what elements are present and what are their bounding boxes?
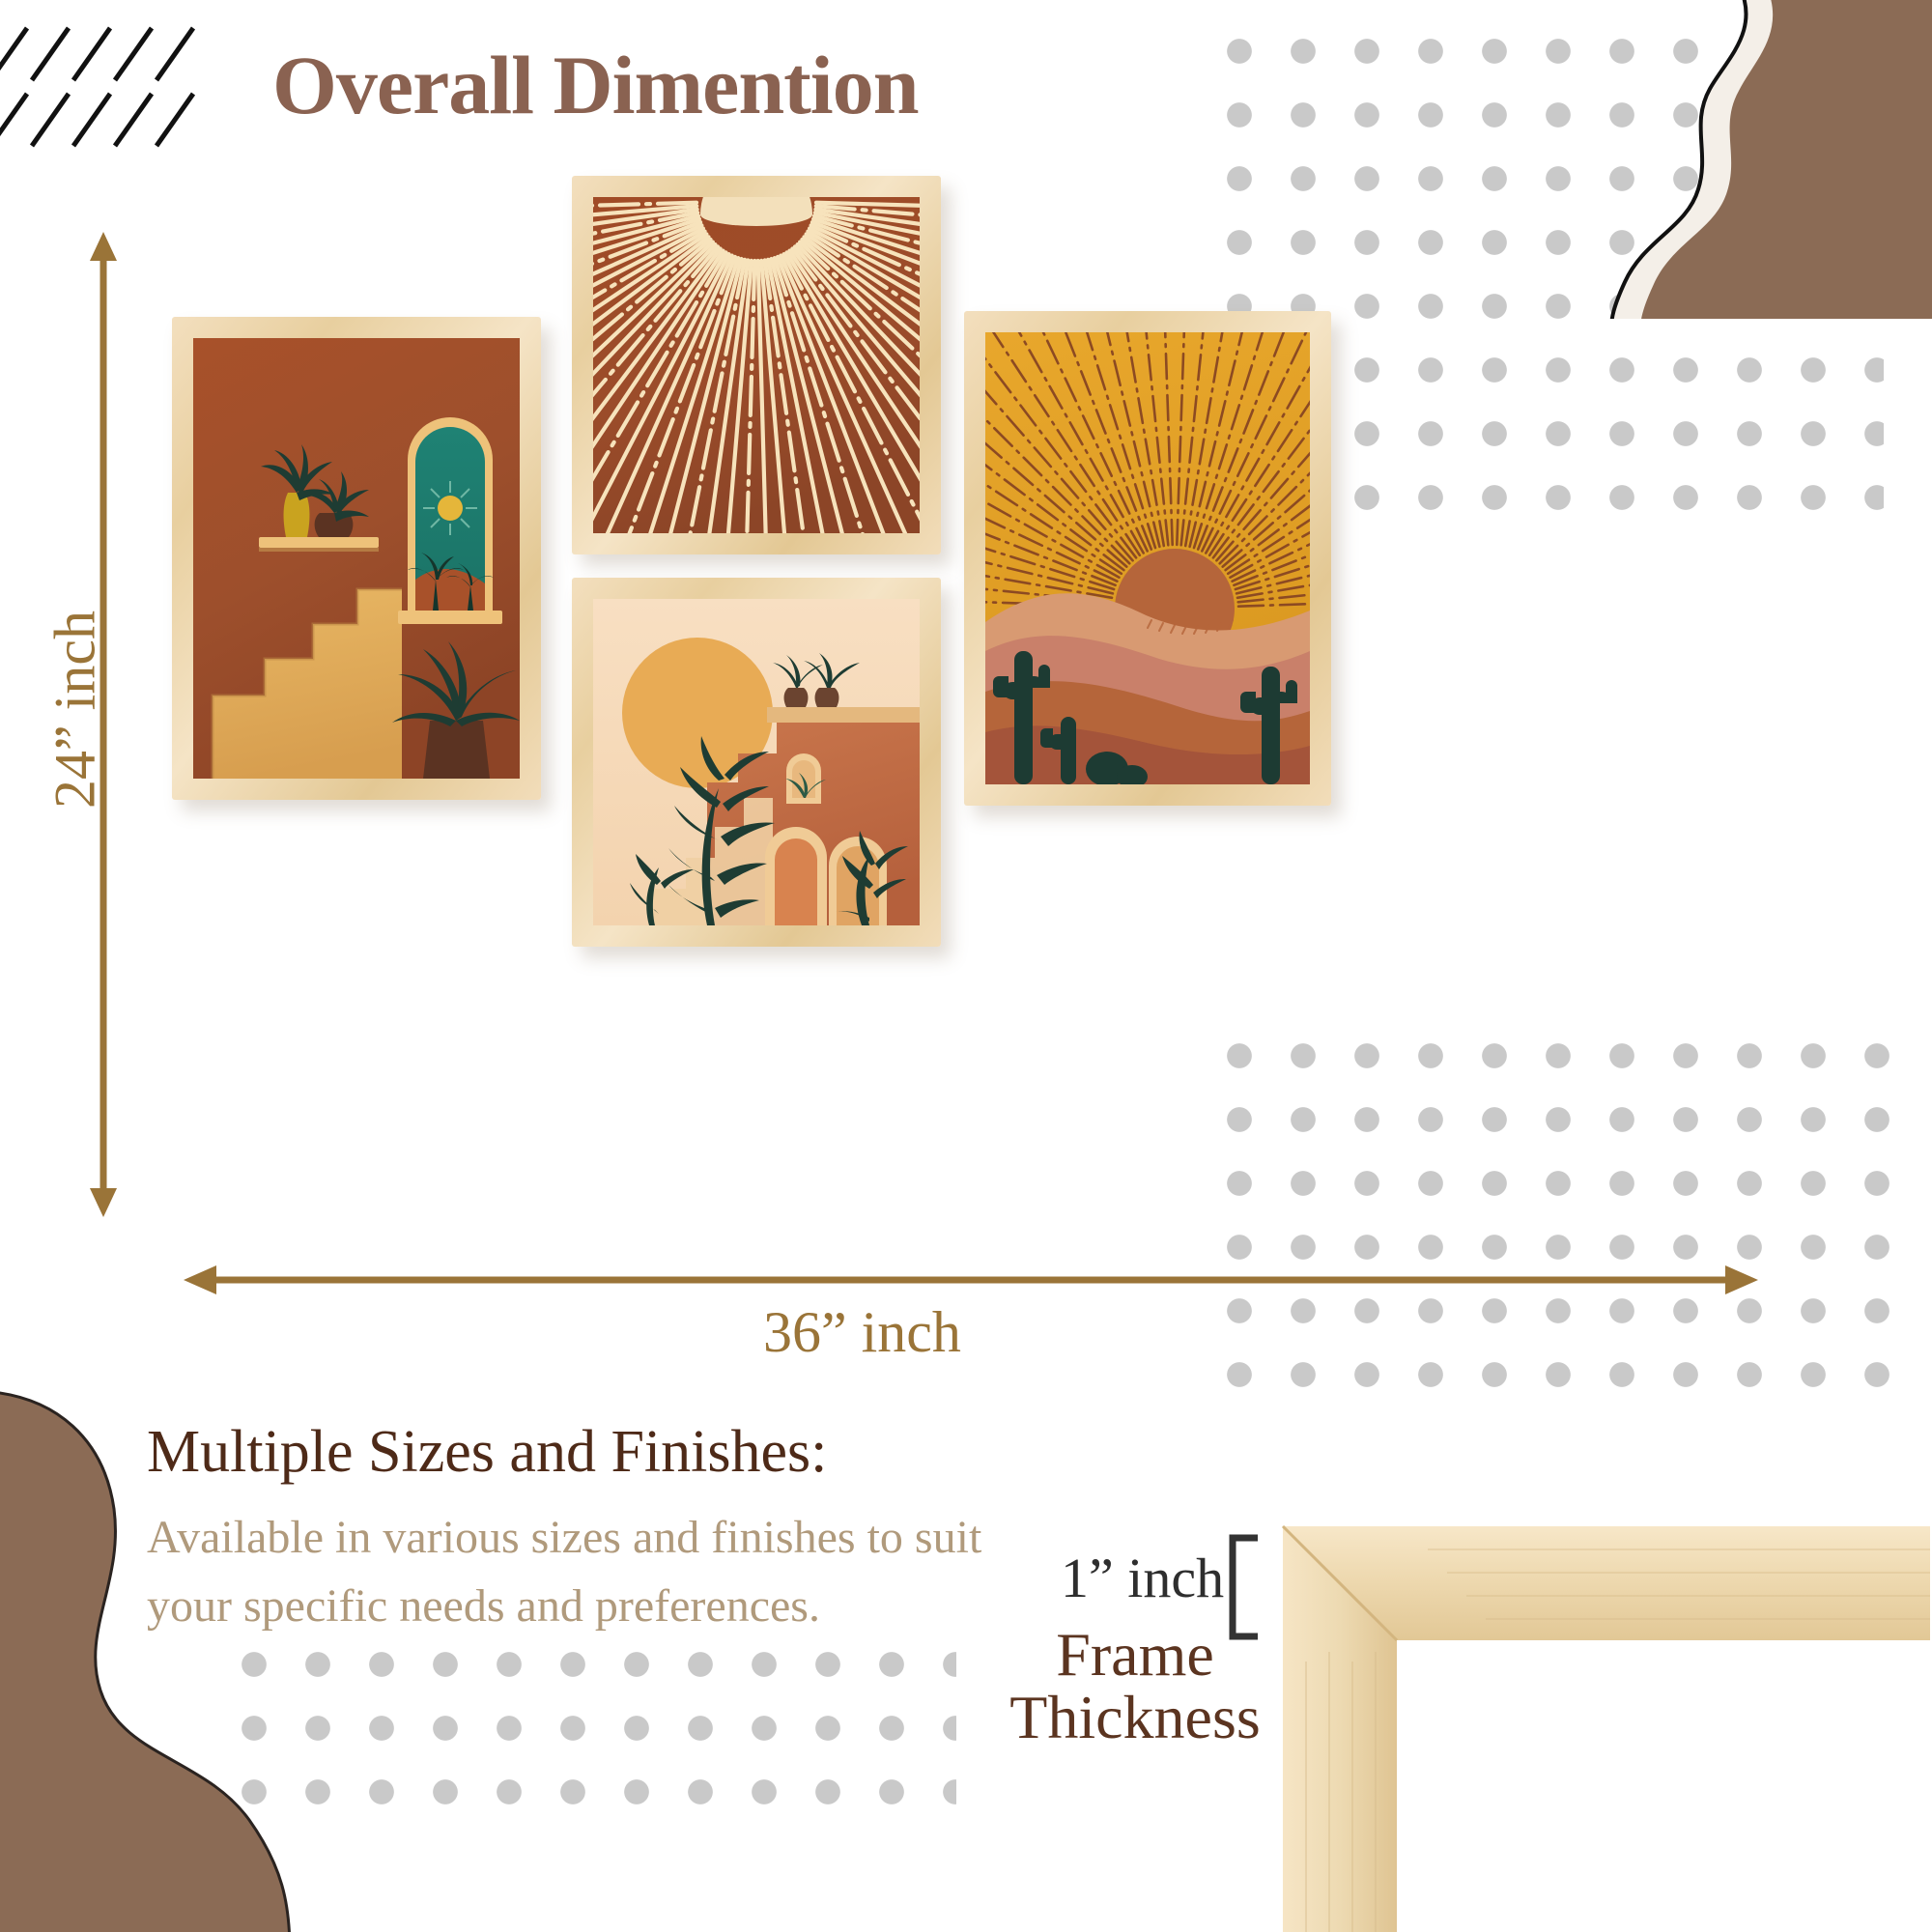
frame-corner-sample — [1273, 1517, 1930, 1932]
height-dimension-label: 24” inch — [43, 584, 109, 836]
art-stairs-svg — [193, 338, 520, 779]
features-body-text: Available in various sizes and finishes … — [147, 1503, 997, 1640]
infographic-canvas: Overall Dimention 24” inch 36” inch — [0, 0, 1932, 1932]
hatch-lines-decoration — [0, 24, 222, 150]
width-dimension-label: 36” inch — [763, 1299, 961, 1366]
artwork-frame-terracotta-stairs-window[interactable] — [172, 317, 541, 800]
features-heading: Multiple Sizes and Finishes: — [147, 1418, 827, 1487]
dot-pattern-bottom-left — [222, 1633, 956, 1826]
artwork-canvas-desert — [985, 332, 1310, 784]
artwork-frame-arches-plants[interactable] — [572, 578, 941, 947]
artwork-canvas-sunburst — [593, 197, 920, 533]
page-title: Overall Dimention — [272, 37, 919, 133]
artwork-frame-sunburst-rays[interactable] — [572, 176, 941, 554]
art-desert-svg — [985, 332, 1310, 784]
dot-pattern-mid-right — [1207, 1024, 1903, 1410]
frame-thickness-title-line1: Frame — [995, 1623, 1275, 1686]
art-arches-svg — [593, 599, 920, 925]
horizontal-dimension-arrow — [184, 1261, 1758, 1299]
art-sunburst-svg — [593, 197, 920, 533]
frame-thickness-measure-label: 1” inch — [1061, 1546, 1224, 1610]
frame-thickness-title: Frame Thickness — [995, 1623, 1275, 1749]
frame-thickness-title-line2: Thickness — [995, 1686, 1275, 1748]
blob-decoration-top-right — [1565, 0, 1932, 319]
artwork-canvas-arches — [593, 599, 920, 925]
artwork-frame-desert-sunrise[interactable] — [964, 311, 1331, 806]
artwork-canvas-stairs — [193, 338, 520, 779]
